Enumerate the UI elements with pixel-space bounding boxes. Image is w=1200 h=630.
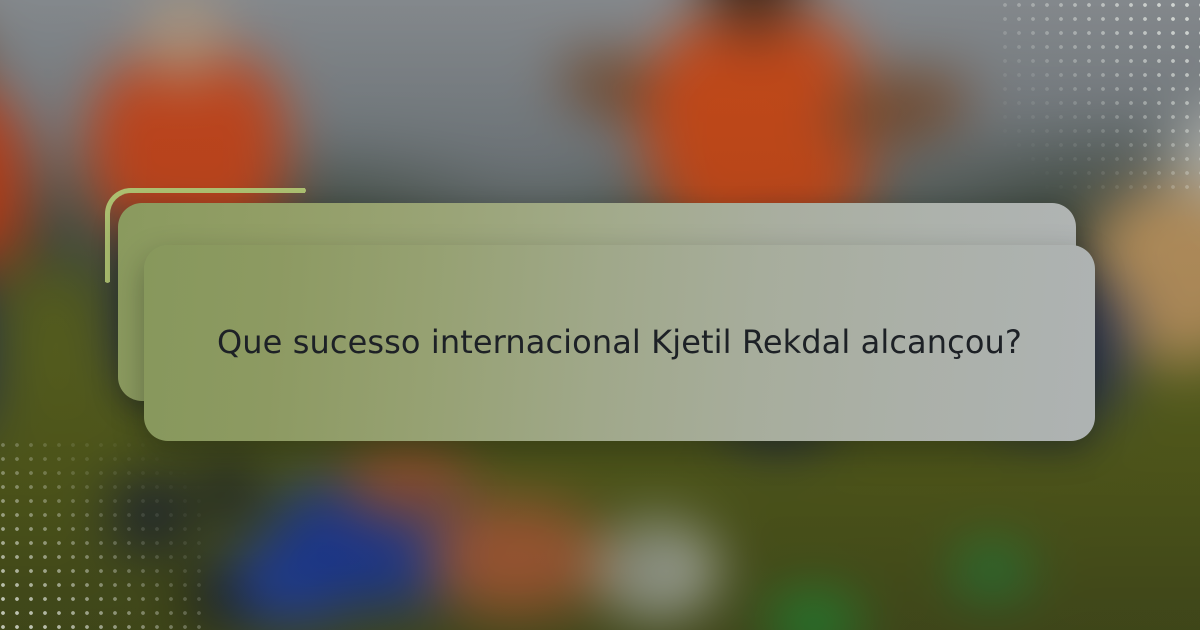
page-title: Que sucesso internacional Kjetil Rekdal …: [208, 316, 1031, 369]
share-card-canvas: Que sucesso internacional Kjetil Rekdal …: [0, 0, 1200, 630]
dot-grid-top-right-icon: [996, 0, 1200, 196]
dot-grid-bottom-left-icon: [0, 436, 204, 630]
card-front-layer: Que sucesso internacional Kjetil Rekdal …: [144, 245, 1095, 441]
